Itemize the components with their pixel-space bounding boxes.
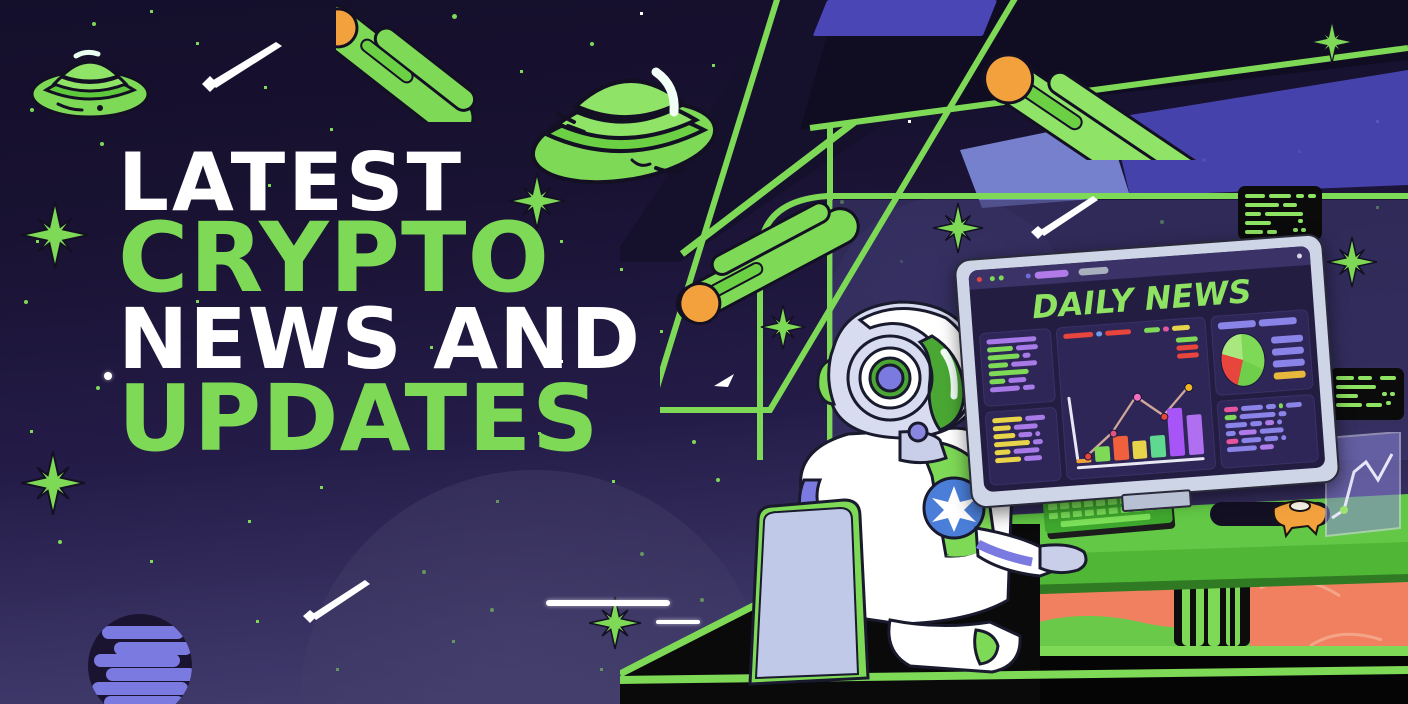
star: [96, 386, 100, 390]
status-readout-bottom[interactable]: [1330, 368, 1408, 426]
browser-menu-dot[interactable]: [1297, 253, 1302, 258]
headline-line-4: UPDATES: [118, 376, 641, 462]
pie-chart: [1219, 331, 1268, 388]
star: [248, 520, 251, 523]
shooting-star-icon: [1026, 196, 1102, 244]
chair: [744, 498, 876, 704]
star: [320, 486, 323, 489]
star: [92, 22, 96, 26]
panel-feed-list[interactable]: [1216, 394, 1319, 469]
banner-illustration: LATEST CRYPTO NEWS AND UPDATES: [0, 0, 1408, 704]
sparkle-icon: [1310, 20, 1354, 64]
browser-tab-active[interactable]: [1034, 269, 1068, 278]
bar: [1167, 407, 1185, 456]
panel-article-list[interactable]: [979, 328, 1056, 407]
bar: [1112, 436, 1129, 461]
tab-favicon: [1026, 273, 1031, 278]
star: [30, 430, 33, 433]
star: [256, 620, 259, 623]
bar: [1094, 446, 1110, 462]
star: [150, 10, 153, 13]
sparkle-icon: [20, 450, 86, 516]
panel-pie-breakdown[interactable]: [1210, 309, 1314, 396]
bar: [1150, 434, 1166, 457]
sparkle-icon: [1326, 236, 1378, 288]
dashboard: [979, 309, 1319, 486]
star: [150, 560, 153, 563]
bar-chart: [1072, 398, 1204, 463]
dashboard-right-column: [1210, 309, 1319, 469]
bar: [1132, 440, 1148, 460]
dashboard-left-column: [979, 328, 1062, 486]
computer-monitor[interactable]: DAILY NEWS: [953, 233, 1340, 509]
bar: [1186, 414, 1204, 455]
shooting-star-icon: [298, 580, 374, 628]
striped-planet: [88, 614, 192, 704]
window-close-dot[interactable]: [977, 277, 982, 282]
comet-icon: [968, 0, 1268, 165]
light-dot: [104, 372, 112, 380]
star: [24, 300, 28, 304]
window-min-dot[interactable]: [990, 276, 995, 281]
star: [100, 142, 104, 146]
chart-legend: [1176, 336, 1199, 359]
panel-market-list[interactable]: [985, 407, 1062, 486]
comet-icon: [336, 0, 546, 127]
spark-triangle: [714, 372, 736, 388]
line-chart: [1064, 334, 1209, 473]
sparkle-icon: [932, 202, 984, 254]
panel-price-chart[interactable]: [1056, 317, 1217, 481]
monitor-screen[interactable]: DAILY NEWS: [968, 246, 1325, 492]
star: [330, 128, 333, 131]
star: [58, 540, 62, 544]
data-point: [1109, 429, 1118, 438]
sparkle-icon: [20, 200, 90, 270]
sparkle-icon: [508, 172, 566, 230]
browser-tab-inactive[interactable]: [1078, 267, 1108, 276]
window-max-dot[interactable]: [999, 275, 1004, 280]
shooting-star-icon: [196, 42, 288, 98]
ufo-small: [28, 28, 152, 135]
